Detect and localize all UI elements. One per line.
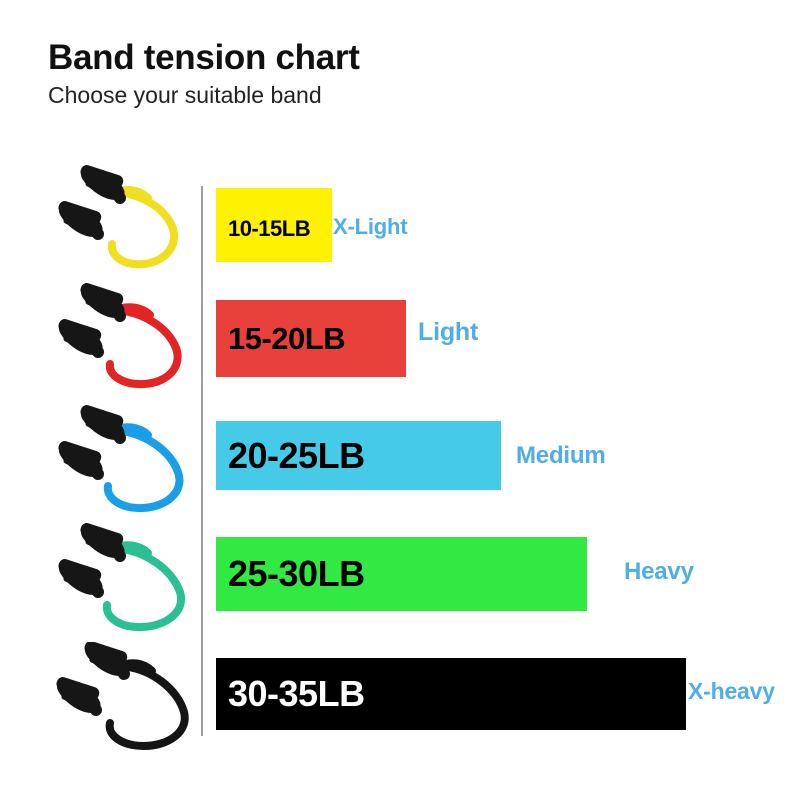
bar-value-label-x-heavy: 30-35LB — [216, 673, 365, 715]
vertical-axis-line — [201, 186, 203, 736]
bar-value-label-light: 15-20LB — [216, 321, 345, 357]
tier-label-medium: Medium — [516, 442, 605, 470]
bar-heavy[interactable]: 25-30LB — [216, 537, 587, 611]
tier-label-x-light: X-Light — [333, 214, 407, 240]
tier-label-light: Light — [418, 318, 478, 347]
tier-label-x-heavy: X-heavy — [688, 678, 775, 705]
resistance-band-red-icon — [44, 282, 199, 394]
resistance-band-black-icon — [44, 642, 199, 754]
band-tension-chart-page: Band tension chart Choose your suitable … — [0, 0, 800, 800]
tier-label-heavy: Heavy — [624, 558, 694, 586]
bar-value-label-x-light: 10-15LB — [216, 216, 310, 242]
bar-value-label-medium: 20-25LB — [216, 435, 365, 477]
resistance-band-blue-icon — [44, 404, 199, 516]
bar-x-light[interactable]: 10-15LB — [216, 188, 332, 262]
resistance-band-teal-icon — [44, 522, 199, 634]
bar-value-label-heavy: 25-30LB — [216, 553, 365, 595]
bar-medium[interactable]: 20-25LB — [216, 421, 501, 490]
bar-light[interactable]: 15-20LB — [216, 300, 406, 377]
bar-x-heavy[interactable]: 30-35LB — [216, 658, 686, 730]
chart-area: 10-15LB X-Light — [0, 0, 800, 800]
resistance-band-yellow-icon — [44, 164, 199, 276]
